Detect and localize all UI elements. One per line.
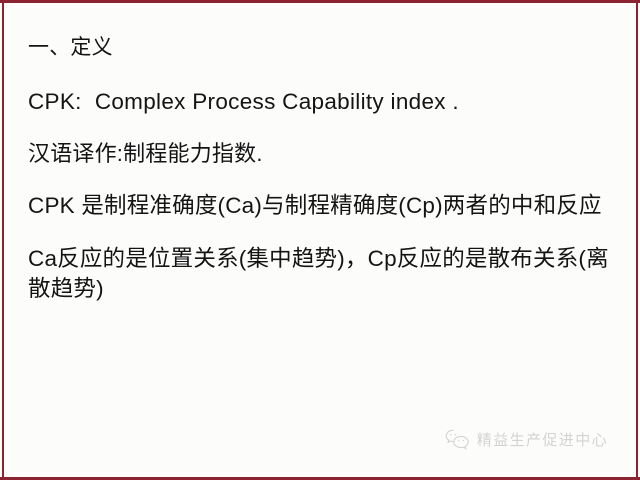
border-right bbox=[636, 0, 638, 480]
paragraph-cpk-composition: CPK 是制程准确度(Ca)与制程精确度(Cp)两者的中和反应 bbox=[28, 191, 622, 221]
watermark: 精益生产促进中心 bbox=[444, 428, 608, 450]
paragraph-ca-cp-relationship: Ca反应的是位置关系(集中趋势)，Cp反应的是散布关系(离散趋势) bbox=[28, 244, 622, 303]
paragraph-cpk-definition: CPK: Complex Process Capability index . bbox=[28, 87, 622, 116]
paragraph-chinese-translation: 汉语译作:制程能力指数. bbox=[28, 140, 622, 169]
slide-heading: 一、定义 bbox=[28, 34, 622, 61]
border-top bbox=[0, 0, 640, 3]
wechat-icon bbox=[444, 428, 470, 450]
slide-canvas: 一、定义 CPK: Complex Process Capability ind… bbox=[0, 0, 640, 480]
border-left bbox=[2, 0, 4, 480]
slide-inner-frame: 一、定义 CPK: Complex Process Capability ind… bbox=[10, 8, 630, 472]
slide-content: 一、定义 CPK: Complex Process Capability ind… bbox=[28, 34, 622, 303]
watermark-text: 精益生产促进中心 bbox=[477, 429, 608, 450]
